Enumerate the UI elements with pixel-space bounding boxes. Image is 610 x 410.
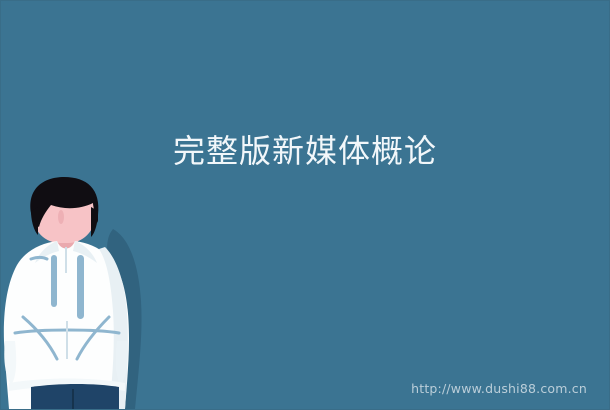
hair-left-side (31, 207, 38, 235)
shoulder-seam-left (31, 258, 47, 260)
hoodie-person-illustration (1, 177, 151, 409)
hair-right-side (91, 207, 98, 237)
nose (58, 210, 64, 224)
drawstring-right (77, 255, 84, 319)
drawstring-left (51, 255, 57, 307)
watermark-url: http://www.dushi88.com.cn (411, 382, 587, 396)
pants (31, 384, 119, 409)
image-canvas: 完整版新媒体概论 http://www.dushi88.com.cn (0, 0, 610, 410)
page-title: 完整版新媒体概论 (1, 129, 609, 173)
